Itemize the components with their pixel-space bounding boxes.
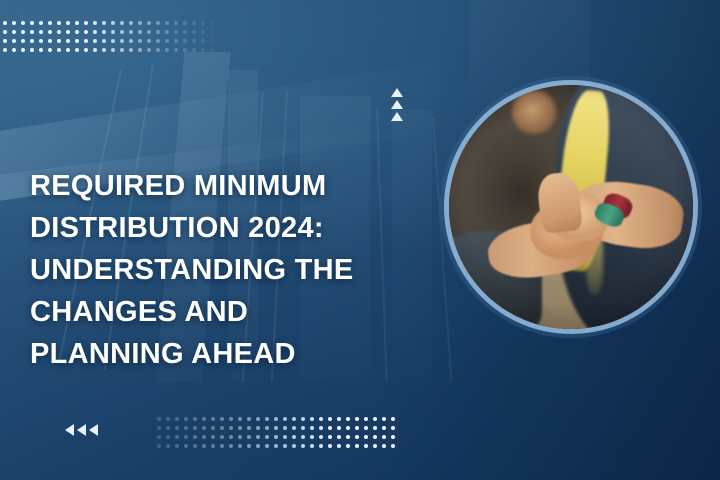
dot [120,39,124,43]
dot [166,435,170,439]
dot [66,21,70,25]
dot [247,435,251,439]
headline-line: REQUIRED MINIMUM [30,165,410,207]
dot [256,426,260,430]
dot [75,21,79,25]
dot [319,435,323,439]
dot-grid-icon-bottom [157,417,400,453]
dot [175,417,179,421]
dot [102,30,106,34]
dot [3,48,7,52]
dot [301,444,305,448]
dot [337,417,341,421]
dot [202,417,206,421]
dot [247,444,251,448]
dot [310,435,314,439]
dot [346,426,350,430]
dot [166,417,170,421]
dot [382,444,386,448]
dot [84,21,88,25]
dot [165,21,169,25]
dot [211,426,215,430]
dot [201,39,205,43]
dot [292,444,296,448]
dot [211,444,215,448]
dot [229,417,233,421]
dot [355,435,359,439]
dot [319,417,323,421]
dot [21,21,25,25]
dot [75,48,79,52]
dot [183,30,187,34]
dot [283,417,287,421]
promo-banner: REQUIRED MINIMUM DISTRIBUTION 2024: UNDE… [0,0,720,480]
dot [129,21,133,25]
dot [183,39,187,43]
dot [373,417,377,421]
dot [328,417,332,421]
dot [256,435,260,439]
dot [328,444,332,448]
dot [391,417,395,421]
dot [310,426,314,430]
dot-grid-icon-top [0,21,219,57]
dot [12,48,16,52]
dot [102,48,106,52]
dot [157,435,161,439]
dot [138,21,142,25]
dot [48,30,52,34]
dot [193,435,197,439]
dot [39,48,43,52]
dot [202,444,206,448]
dot [373,444,377,448]
dot [247,417,251,421]
dot [192,39,196,43]
dot [346,444,350,448]
dot [138,48,142,52]
dot [301,417,305,421]
dot [202,435,206,439]
dot [39,39,43,43]
dot [174,48,178,52]
dot [355,417,359,421]
dot [274,417,278,421]
dot [301,426,305,430]
dot [210,21,214,25]
dot [238,426,242,430]
dot [57,30,61,34]
dot [310,444,314,448]
dot [21,48,25,52]
dot [201,48,205,52]
dot [12,30,16,34]
page-title: REQUIRED MINIMUM DISTRIBUTION 2024: UNDE… [30,165,410,375]
headline-line: UNDERSTANDING THE [30,249,410,291]
dot [138,30,142,34]
dot [75,39,79,43]
dot [84,39,88,43]
triangle-up-icon [391,88,403,97]
dot [48,21,52,25]
dot [156,30,160,34]
dot [201,21,205,25]
dot [247,426,251,430]
dot [265,444,269,448]
photo-vignette [449,85,693,329]
dot [57,48,61,52]
dot [364,426,368,430]
dot [193,444,197,448]
dot [193,417,197,421]
dot [93,48,97,52]
dot [292,435,296,439]
dot [111,21,115,25]
dot [201,30,205,34]
dot [157,444,161,448]
dot [102,21,106,25]
dot [382,426,386,430]
dot [175,444,179,448]
dot [382,417,386,421]
headline-line: PLANNING AHEAD [30,333,410,375]
dot [129,48,133,52]
dot [364,417,368,421]
dot [256,417,260,421]
dot [211,417,215,421]
dot [147,30,151,34]
dot [328,426,332,430]
triangle-left-icon-group [65,424,98,436]
dot [292,426,296,430]
dot [183,21,187,25]
dot [147,21,151,25]
dot [391,444,395,448]
headline-line: DISTRIBUTION 2024: [30,207,410,249]
dot [210,48,214,52]
dot [93,39,97,43]
dot [192,48,196,52]
dot [175,426,179,430]
dot [391,426,395,430]
dot [256,444,260,448]
dot [183,48,187,52]
dot [111,48,115,52]
dot [373,435,377,439]
dot [57,21,61,25]
dot [48,48,52,52]
dot [391,435,395,439]
triangle-up-icon [391,112,403,121]
dot [364,444,368,448]
triangle-up-icon [391,100,403,109]
dot [3,30,7,34]
dot [301,435,305,439]
dot [66,30,70,34]
dot [12,21,16,25]
dot [39,21,43,25]
dot [111,30,115,34]
dot [102,39,106,43]
dot [328,435,332,439]
dot [21,39,25,43]
dot [165,30,169,34]
dot [174,21,178,25]
dot [346,435,350,439]
dot [319,426,323,430]
dot [21,30,25,34]
dot [229,444,233,448]
dot [66,48,70,52]
triangle-left-icon [89,424,98,436]
dot [238,444,242,448]
dot [274,435,278,439]
dot [192,21,196,25]
dot [147,48,151,52]
dot [265,435,269,439]
dot [202,426,206,430]
dot [138,39,142,43]
dot [265,417,269,421]
dot [283,435,287,439]
dot [129,30,133,34]
dot [220,435,224,439]
dot [382,435,386,439]
dot [93,30,97,34]
dot [3,21,7,25]
dot [66,39,70,43]
dot [292,417,296,421]
dot [184,417,188,421]
dot [129,39,133,43]
dot [120,48,124,52]
dot [30,30,34,34]
dot [319,444,323,448]
dot [355,444,359,448]
dot [210,30,214,34]
dot [12,39,16,43]
dot [57,39,61,43]
dot [238,417,242,421]
dot [283,444,287,448]
dot [39,30,43,34]
dot [229,426,233,430]
dot [166,426,170,430]
dot [310,417,314,421]
helping-hands-photo [449,85,693,329]
dot [193,426,197,430]
dot [229,435,233,439]
dot [211,435,215,439]
dot [157,426,161,430]
dot [175,435,179,439]
dot [157,417,161,421]
dot [84,48,88,52]
dot [238,435,242,439]
dot [120,30,124,34]
dot [355,426,359,430]
dot [147,39,151,43]
dot [156,21,160,25]
dot [111,39,115,43]
photo-scene [449,85,693,329]
dot [220,426,224,430]
dot [265,426,269,430]
dot [184,444,188,448]
dot [30,48,34,52]
dot [48,39,52,43]
triangle-left-icon [65,424,74,436]
dot [166,444,170,448]
dot [184,426,188,430]
dot [120,21,124,25]
dot [165,48,169,52]
dot [283,426,287,430]
dot [165,39,169,43]
dot [156,39,160,43]
dot [337,435,341,439]
dot [3,39,7,43]
dot [373,426,377,430]
dot [364,435,368,439]
dot [30,21,34,25]
headline-line: CHANGES AND [30,291,410,333]
dot [220,417,224,421]
dot [220,444,224,448]
dot [274,426,278,430]
dot [84,30,88,34]
dot [337,426,341,430]
dot [93,21,97,25]
dot [184,435,188,439]
triangle-left-icon [77,424,86,436]
dot [156,48,160,52]
dot [192,30,196,34]
dot [30,39,34,43]
triangle-up-icon-group [391,88,403,121]
dot [274,444,278,448]
dot [174,39,178,43]
dot [346,417,350,421]
dot [210,39,214,43]
dot [337,444,341,448]
dot [75,30,79,34]
dot [174,30,178,34]
